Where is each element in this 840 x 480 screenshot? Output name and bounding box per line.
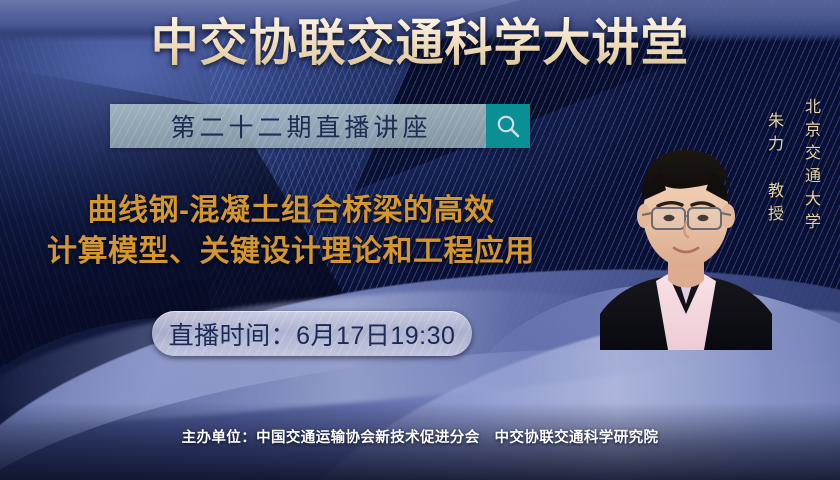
broadcast-time-pill: 直播时间：6月17日19:30 [152,311,472,356]
lecture-title-line2: 计算模型、关键设计理论和工程应用 [6,231,576,272]
lecture-title-line1: 曲线钢-混凝土组合桥梁的高效 [6,190,576,231]
search-icon[interactable] [486,104,530,148]
organizer-footer: 主办单位：中国交通运输协会新技术促进分会 中交协联交通科学研究院 [0,426,840,447]
series-bar: 第二十二期直播讲座 [110,104,530,148]
series-label: 第二十二期直播讲座 [110,104,486,148]
speaker-portrait [600,118,772,350]
lecture-title: 曲线钢-混凝土组合桥梁的高效 计算模型、关键设计理论和工程应用 [6,190,576,272]
main-title: 中交协联交通科学大讲堂 [17,14,823,72]
speaker-name: 朱力 教授 [761,112,785,228]
lecture-poster: 中交协联交通科学大讲堂 第二十二期直播讲座 曲线钢-混凝土组合桥梁的高效 计算模… [0,0,840,480]
speaker-affiliation: 北京交通大学 [798,98,822,236]
